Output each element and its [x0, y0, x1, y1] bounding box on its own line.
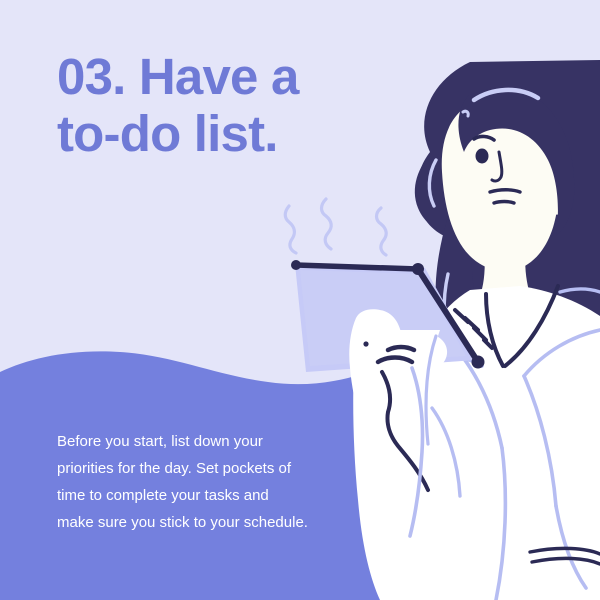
tablet-corner-top-left	[291, 260, 301, 270]
page-title: 03. Have a to-do list.	[57, 48, 387, 162]
eye-shape	[476, 149, 489, 164]
mouth-lower-line	[494, 202, 514, 204]
tablet-corner-bottom-right	[472, 356, 485, 369]
finger-detail-dot	[363, 341, 368, 346]
tablet-corner-top-right	[412, 263, 424, 275]
poster-canvas: 03. Have a to-do list. Before you start,…	[0, 0, 600, 600]
body-paragraph: Before you start, list down your priorit…	[57, 428, 309, 536]
